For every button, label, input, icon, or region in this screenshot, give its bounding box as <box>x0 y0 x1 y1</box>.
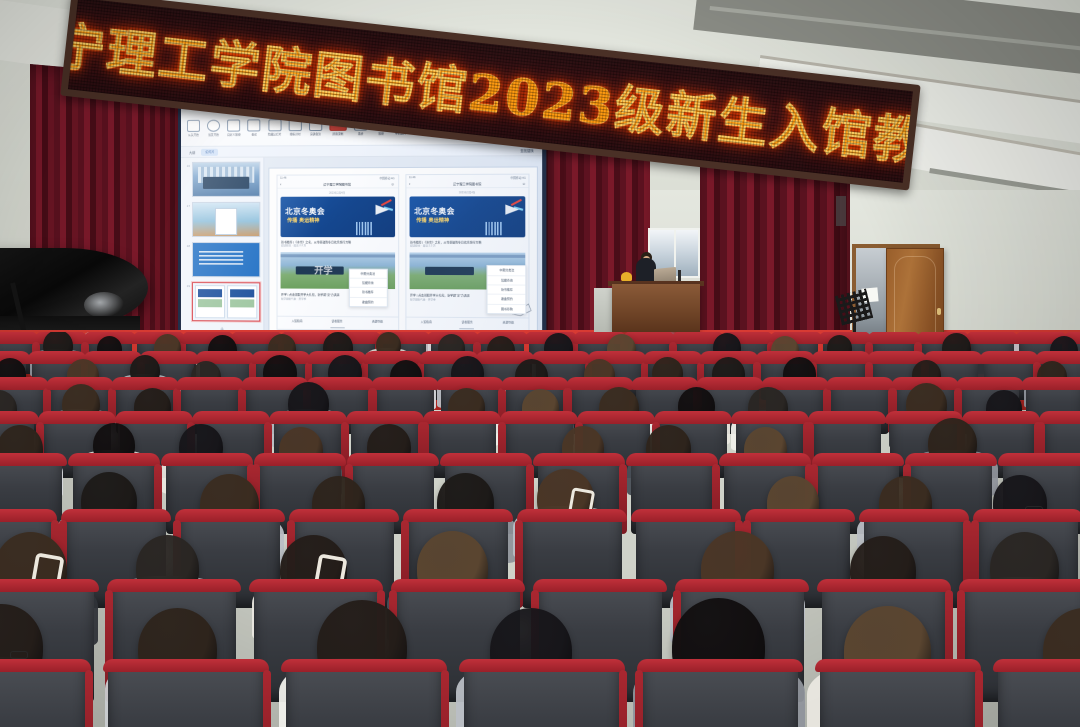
profile-icon[interactable]: ☺ <box>522 181 526 185</box>
auditorium-seat <box>108 662 264 727</box>
photo-caption-band <box>409 255 526 258</box>
play-from-start-icon <box>187 119 200 131</box>
tab-resources[interactable]: 资源导航 <box>503 320 514 324</box>
thumbnail-row[interactable]: 18 <box>184 242 260 277</box>
ribbon-custom-show[interactable]: 自定义放映 <box>227 119 241 136</box>
winter-olympics-banner: 北京冬奥会 传播 奥运精神 <box>409 196 526 237</box>
auditorium-seat <box>464 662 620 727</box>
outline-tab[interactable]: 大纲 <box>189 149 195 154</box>
megaphone-icon <box>506 204 520 214</box>
tab-guide[interactable]: 入馆指南 <box>421 320 432 324</box>
home-indicator <box>277 325 398 330</box>
desk-lamp <box>621 272 632 281</box>
ribbon-meeting[interactable]: 会议 <box>248 119 261 136</box>
podium-side-panel <box>594 288 612 336</box>
back-icon[interactable]: ‹ <box>409 181 410 186</box>
account-title: 辽宁理工学院图书馆 <box>453 181 481 185</box>
tab-guide[interactable]: 入馆指南 <box>292 319 303 323</box>
popup-item[interactable]: 馆藏查询 <box>349 279 386 289</box>
ribbon-play-from-start[interactable]: 从头开始 <box>187 119 200 136</box>
slide-thumbnail-16[interactable] <box>192 162 260 197</box>
article-meta: 阅读原文 · 阅读 2.3 万 <box>410 245 525 249</box>
article-date: 2023年2月4日 <box>406 188 529 195</box>
wps-workspace: 16 17 18 19 + <box>181 156 542 349</box>
wall-speaker <box>836 196 846 226</box>
account-title: 辽宁理工学院图书馆 <box>323 182 351 186</box>
popup-menu-right[interactable]: 中图分类法 馆藏查询 新书推荐 歌曲预约 图书荐购 <box>487 265 527 314</box>
custom-show-icon <box>227 119 240 131</box>
slides-tab[interactable]: 幻灯片 <box>201 148 218 155</box>
phone-navbar: ‹ 辽宁理工学院图书馆 ☺ <box>277 180 398 188</box>
auditorium-seat <box>998 662 1080 727</box>
banner-subtitle: 传播 奥运精神 <box>416 217 449 224</box>
banner-title: 北京冬奥会 <box>414 206 454 217</box>
thumbnail-number: 17 <box>184 202 190 208</box>
popup-item[interactable]: 歌曲预约 <box>488 295 526 305</box>
auditorium-seat <box>0 662 86 727</box>
popup-item[interactable]: 馆藏查询 <box>488 276 526 286</box>
thumbnail-row[interactable]: 17 <box>184 202 260 237</box>
ribbon-hide-slide[interactable]: 隐藏幻灯片 <box>268 119 282 136</box>
thumbnail-number: 19 <box>184 282 190 288</box>
podium <box>612 284 700 332</box>
lecture-hall-photo: 文件 开始 插入 设计 切换 动画 幻灯片放映 审阅 视图 章节 开发工具 从头… <box>0 0 1080 727</box>
eyeglasses <box>10 651 28 659</box>
thumbnail-number: 16 <box>184 162 190 168</box>
winter-olympics-banner: 北京冬奥会 传播 奥运精神 <box>280 197 394 238</box>
slide-canvas[interactable]: 11:46 中国移动 4G ‹ 辽宁理工学院图书馆 ☺ 2023年2月4日 北京… <box>264 156 542 349</box>
thumb-mini-phone <box>195 285 225 318</box>
article-meta: 阅读原文 · 阅读 2.3 万 <box>281 244 393 248</box>
profile-icon[interactable]: ☺ <box>391 182 395 186</box>
photo-caption-band <box>280 254 394 257</box>
meeting-icon <box>248 119 261 131</box>
thumb-mini-phone <box>227 285 257 318</box>
ribbon-play-from-current[interactable]: 当页开始 <box>207 119 220 136</box>
popup-item[interactable]: 新书推荐 <box>488 285 526 295</box>
audience-seating <box>0 332 1080 727</box>
slide-thumbnail-rail[interactable]: 16 17 18 19 + <box>181 158 264 347</box>
thumbnail-number: 18 <box>184 242 190 248</box>
article-date: 2023年2月4日 <box>277 188 398 195</box>
current-slide[interactable]: 11:46 中国移动 4G ‹ 辽宁理工学院图书馆 ☺ 2023年2月4日 北京… <box>268 166 538 339</box>
article-body: 新书推荐 |《冰雪》之名，从零基础到冬日欢乐旅行方略 阅读原文 · 阅读 2.3… <box>277 238 398 251</box>
auditorium-seat <box>286 662 442 727</box>
status-time: 11:46 <box>409 176 416 179</box>
phone-navbar: ‹ 辽宁理工学院图书馆 ☺ <box>406 180 529 189</box>
phone-screenshot-left: 11:46 中国移动 4G ‹ 辽宁理工学院图书馆 ☺ 2023年2月4日 北京… <box>276 174 399 331</box>
tab-service[interactable]: 读者服务 <box>462 320 473 324</box>
status-time: 11:46 <box>280 177 286 180</box>
status-carrier: 中国移动 4G <box>380 176 395 180</box>
auditorium-seat <box>642 662 798 727</box>
banner-title: 北京冬奥会 <box>285 206 325 217</box>
tab-resources[interactable]: 资源导航 <box>372 319 383 323</box>
door-knob[interactable] <box>937 308 941 315</box>
popup-item[interactable]: 中图分类法 <box>349 269 386 279</box>
slide-thumbnail-17[interactable] <box>192 202 260 237</box>
slide-thumbnail-18[interactable] <box>192 242 260 277</box>
status-carrier: 中国移动 4G <box>510 175 525 179</box>
play-from-current-icon <box>207 119 220 131</box>
piano-reflection <box>84 292 124 318</box>
thumbnail-row[interactable]: 19 <box>184 282 260 322</box>
popup-item[interactable]: 图书荐购 <box>488 304 526 313</box>
popup-menu-left[interactable]: 中图分类法 馆藏查询 新书推荐 歌曲预约 <box>348 268 387 307</box>
tab-service[interactable]: 读者服务 <box>332 319 343 323</box>
back-icon[interactable]: ‹ <box>280 182 281 187</box>
megaphone-icon <box>375 205 388 215</box>
hide-slide-icon <box>268 119 281 131</box>
photo-signboard <box>425 267 474 275</box>
thumbnail-row[interactable]: 16 <box>184 162 260 197</box>
slide-thumbnail-19-selected[interactable] <box>192 282 260 322</box>
building-graphic <box>355 222 371 235</box>
auditorium-seat <box>820 662 976 727</box>
banner-subtitle: 传播 奥运精神 <box>287 217 319 224</box>
phone-screenshot-right: 11:46 中国移动 4G ‹ 辽宁理工学院图书馆 ☺ 2023年2月4日 北京… <box>405 174 530 332</box>
photo-watermark: 开学 <box>314 263 332 276</box>
popup-item[interactable]: 歌曲预约 <box>349 298 386 307</box>
popup-item[interactable]: 新书推荐 <box>349 288 386 298</box>
building-graphic <box>486 222 503 235</box>
popup-item[interactable]: 中图分类法 <box>488 266 526 276</box>
article-body: 新书推荐 |《冰雪》之名，从零基础到冬日欢乐旅行方略 阅读原文 · 阅读 2.3… <box>406 238 529 251</box>
